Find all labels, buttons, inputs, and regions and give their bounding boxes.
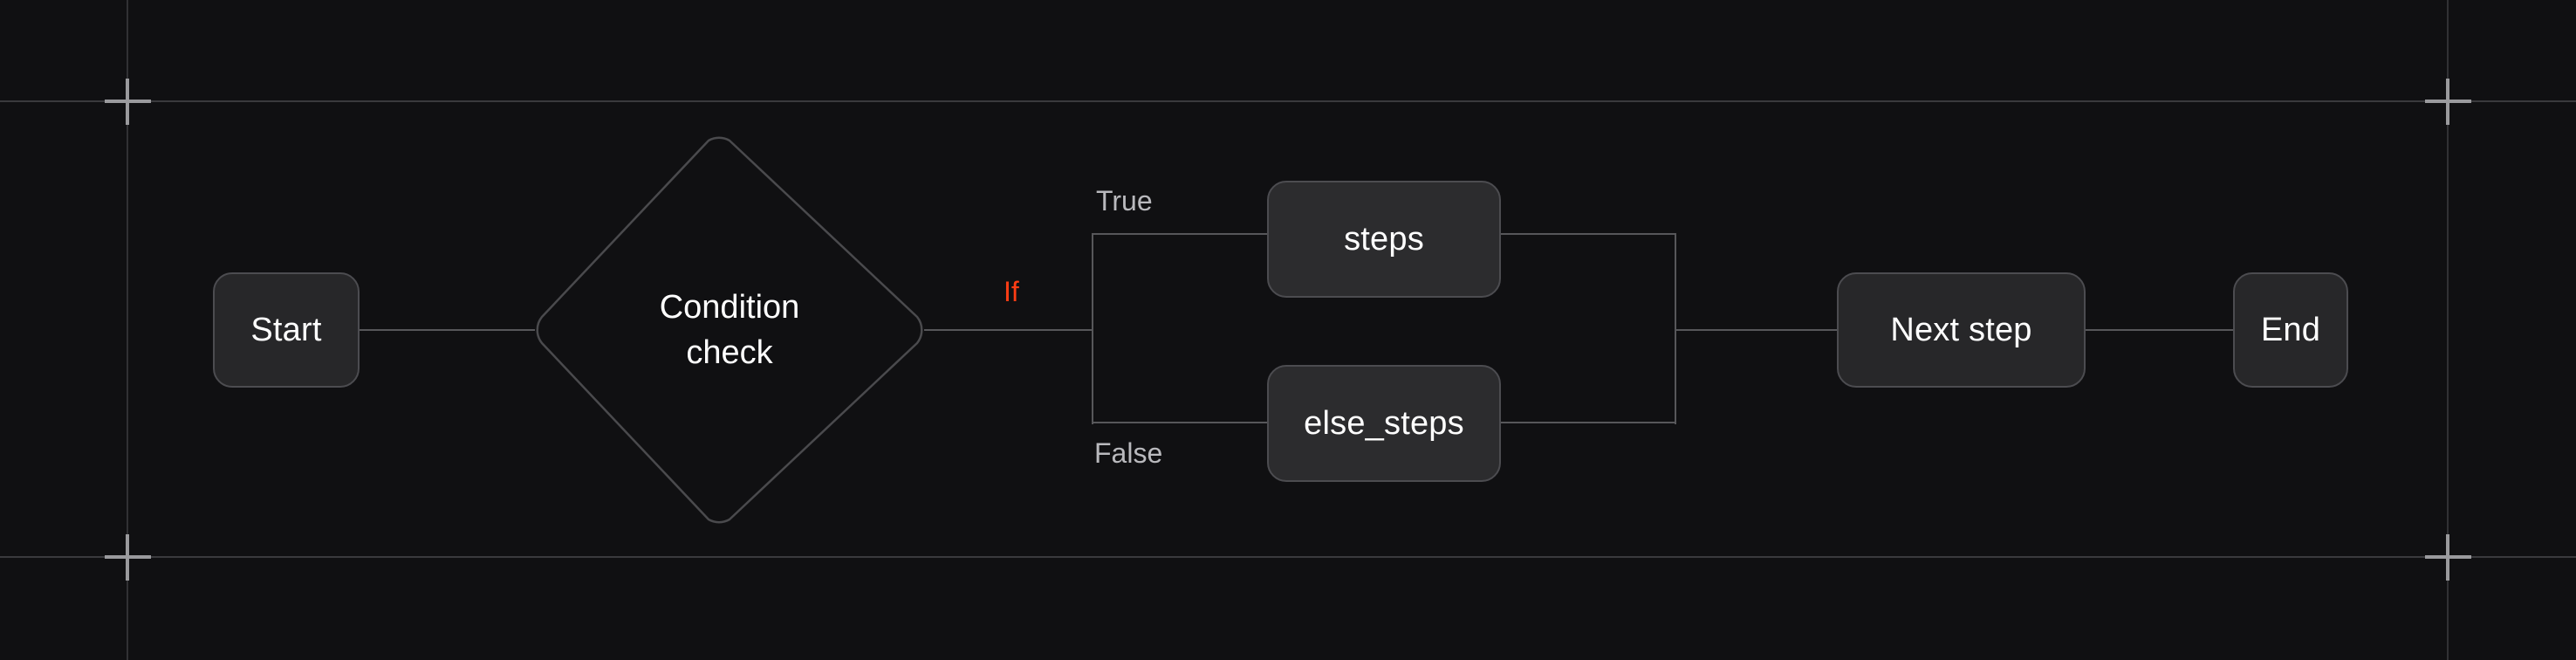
crosshair-arm-vertical-icon [126, 79, 129, 125]
edge-merge-to-next-step[interactable] [1675, 329, 1838, 331]
crosshair-arm-vertical-icon [126, 534, 129, 581]
branch-label-false: False [1094, 437, 1162, 470]
guide-line-horizontal-top [0, 100, 2576, 102]
node-start[interactable]: Start [213, 272, 360, 388]
node-else-steps[interactable]: else_steps [1267, 365, 1501, 482]
branch-label-true: True [1096, 185, 1153, 217]
edge-else-steps-to-merge[interactable] [1499, 422, 1676, 423]
node-next-step[interactable]: Next step [1837, 272, 2086, 388]
node-end[interactable]: End [2233, 272, 2348, 388]
node-next-step-label: Next step [1890, 308, 2031, 352]
edge-start-to-condition[interactable] [360, 329, 535, 331]
guide-line-horizontal-bottom [0, 556, 2576, 558]
edge-next-step-to-end[interactable] [2086, 329, 2234, 331]
node-steps-label: steps [1344, 217, 1424, 261]
node-condition-check-label: Condition check [535, 137, 924, 523]
node-else-steps-label: else_steps [1304, 402, 1464, 445]
edge-branch-split-bar[interactable] [1092, 234, 1093, 424]
node-end-label: End [2261, 308, 2320, 352]
node-start-label: Start [250, 308, 321, 352]
crosshair-arm-vertical-icon [2446, 79, 2449, 125]
node-condition-check[interactable]: Condition check [535, 137, 924, 523]
edge-condition-to-branch[interactable] [924, 329, 1093, 331]
node-steps[interactable]: steps [1267, 181, 1501, 298]
crosshair-arm-vertical-icon [2446, 534, 2449, 581]
branch-label-if: If [1004, 276, 1019, 308]
edge-true-branch-to-steps[interactable] [1092, 233, 1269, 235]
edge-false-branch-to-else-steps[interactable] [1092, 422, 1269, 423]
edge-steps-to-merge[interactable] [1499, 233, 1676, 235]
flowchart-canvas[interactable]: If True False Start Condition check step… [0, 0, 2576, 660]
